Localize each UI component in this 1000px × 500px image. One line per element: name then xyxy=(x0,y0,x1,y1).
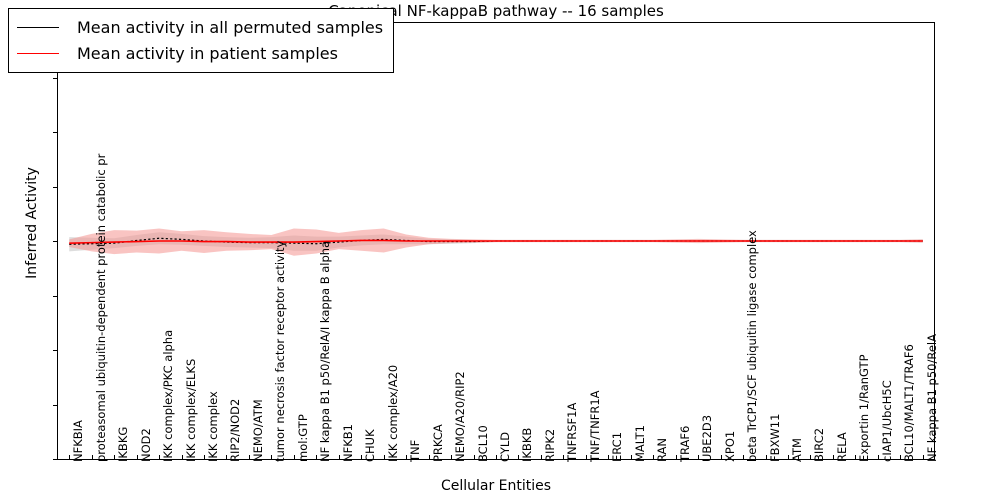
x-axis-tick-label: UBE2D3 xyxy=(702,415,714,462)
x-axis-tick-mark xyxy=(249,455,250,460)
x-axis-tick-label: cIAP1/UbcH5C xyxy=(882,380,894,462)
legend-label: Mean activity in patient samples xyxy=(77,44,338,63)
x-axis-tick-mark xyxy=(878,455,879,460)
x-axis-tick-label: NOD2 xyxy=(141,428,153,462)
x-axis-tick-label: ERC1 xyxy=(612,432,624,462)
x-axis-tick-mark xyxy=(159,455,160,460)
x-axis-tick-label: TNF xyxy=(410,440,422,462)
x-axis-tick-mark xyxy=(743,455,744,460)
x-axis-tick-mark xyxy=(137,455,138,460)
chart-legend: Mean activity in all permuted samplesMea… xyxy=(8,8,394,73)
x-axis-tick-mark xyxy=(92,455,93,460)
legend-label: Mean activity in all permuted samples xyxy=(77,18,383,37)
x-axis-tick-label: NF kappa B1 p50/RelA xyxy=(927,334,939,462)
x-axis-tick-label: IKK complex xyxy=(208,391,220,462)
x-axis-tick-label: beta TrCP1/SCF ubiquitin ligase complex xyxy=(747,230,759,462)
x-axis-tick-mark xyxy=(182,455,183,460)
x-axis-tick-label: IKBKG xyxy=(118,427,130,462)
x-axis-tick-label: Exportin 1/RanGTP xyxy=(859,354,871,462)
x-axis-tick-mark xyxy=(631,455,632,460)
x-axis-tick-mark xyxy=(204,455,205,460)
x-axis-tick-mark xyxy=(586,455,587,460)
y-axis-tick-mark xyxy=(53,78,58,79)
x-axis-tick-label: TNFRSF1A xyxy=(567,403,579,462)
x-axis-tick-label: BCL10/MALT1/TRAF6 xyxy=(904,344,916,462)
x-axis-tick-mark xyxy=(406,455,407,460)
x-axis-tick-mark xyxy=(474,455,475,460)
y-axis-tick-mark xyxy=(53,187,58,188)
y-axis-tick-mark xyxy=(53,459,58,460)
x-axis-tick-mark xyxy=(294,455,295,460)
x-axis-tick-mark xyxy=(676,455,677,460)
x-axis-tick-mark xyxy=(496,455,497,460)
x-axis-tick-label: IKK complex/A20 xyxy=(388,365,400,462)
x-axis-tick-label: RIP2/NOD2 xyxy=(230,399,242,462)
y-axis-tick-mark xyxy=(53,296,58,297)
x-axis-tick-mark xyxy=(384,455,385,460)
x-axis-tick-label: BCL10 xyxy=(478,425,490,462)
x-axis-tick-label: NFKB1 xyxy=(343,424,355,462)
y-axis-tick-mark xyxy=(53,241,58,242)
x-axis-tick-mark xyxy=(541,455,542,460)
legend-item: Mean activity in patient samples xyxy=(17,40,383,66)
x-axis-tick-mark xyxy=(451,455,452,460)
x-axis-tick-label: proteasomal ubiquitin-dependent protein … xyxy=(96,154,108,462)
x-axis-tick-label: TRAF6 xyxy=(680,426,692,462)
y-axis-tick-mark xyxy=(53,405,58,406)
x-axis-tick-label: IKK complex/PKC alpha xyxy=(163,330,175,462)
x-axis-tick-label: NEMO/ATM xyxy=(253,399,265,462)
x-axis-tick-label: CHUK xyxy=(365,429,377,462)
x-axis-tick-mark xyxy=(833,455,834,460)
x-axis-tick-label: NFKBIA xyxy=(73,420,85,462)
legend-color-swatch xyxy=(17,53,59,54)
x-axis-tick-label: RELA xyxy=(837,432,849,462)
x-axis-tick-label: mol:GTP xyxy=(298,414,310,462)
x-axis-tick-mark xyxy=(429,455,430,460)
x-axis-label: Cellular Entities xyxy=(57,478,935,494)
x-axis-tick-mark xyxy=(788,455,789,460)
x-axis-tick-mark xyxy=(923,455,924,460)
legend-item: Mean activity in all permuted samples xyxy=(17,14,383,40)
x-axis-tick-label: ATM xyxy=(792,438,804,462)
x-axis-tick-label: NEMO/A20/RIP2 xyxy=(455,371,467,462)
x-axis-tick-label: TNF/TNFR1A xyxy=(590,390,602,462)
x-axis-tick-mark xyxy=(339,455,340,460)
x-axis-tick-label: RAN xyxy=(657,438,669,462)
x-axis-tick-mark xyxy=(114,455,115,460)
y-axis-tick-mark xyxy=(53,350,58,351)
x-axis-tick-label: IKK complex/ELKS xyxy=(186,359,198,462)
x-axis-tick-label: NF kappa B1 p50/RelA/I kappa B alpha xyxy=(320,241,332,462)
x-axis-tick-mark xyxy=(721,455,722,460)
x-axis-tick-label: IKBKB xyxy=(522,428,534,462)
x-axis-tick-label: tumor necrosis factor receptor activity xyxy=(275,241,287,462)
x-axis-tick-label: PRKCA xyxy=(433,424,445,462)
legend-color-swatch xyxy=(17,27,59,28)
x-axis-tick-label: XPO1 xyxy=(725,431,737,462)
x-axis-tick-label: BIRC2 xyxy=(814,428,826,462)
x-axis-tick-mark xyxy=(698,455,699,460)
x-axis-tick-mark xyxy=(766,455,767,460)
y-axis-tick-mark xyxy=(53,132,58,133)
x-axis-tick-label: FBXW11 xyxy=(770,414,782,462)
figure-canvas: Canonical NF-kappaB pathway -- 16 sample… xyxy=(0,0,1000,500)
x-axis-tick-label: RIPK2 xyxy=(545,429,557,462)
x-axis-tick-label: CYLD xyxy=(500,432,512,462)
x-axis-tick-label: MALT1 xyxy=(635,425,647,462)
